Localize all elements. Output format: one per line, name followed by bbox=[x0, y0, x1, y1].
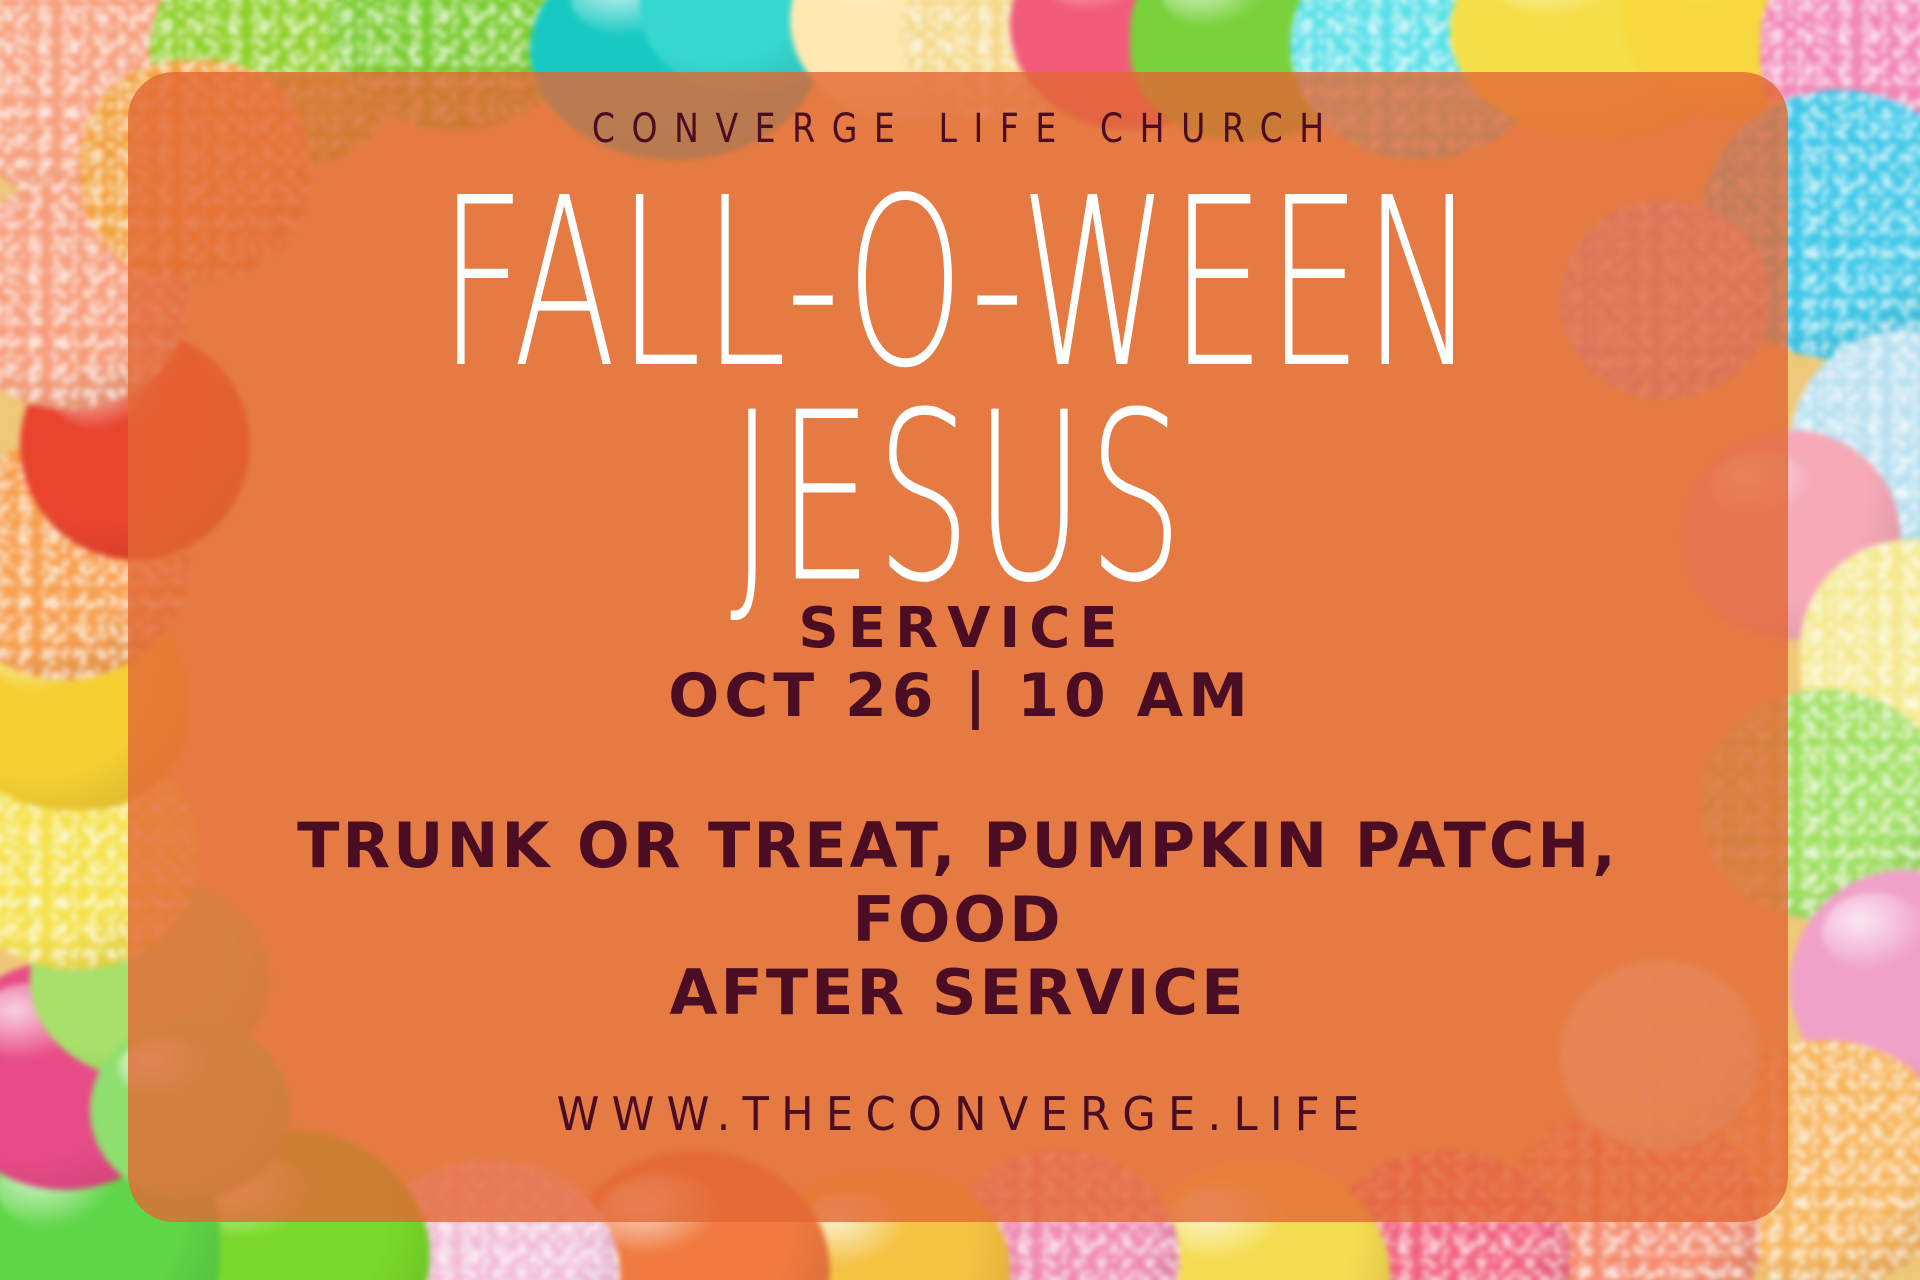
event-details-line-1: TRUNK OR TREAT, PUMPKIN PATCH, FOOD bbox=[188, 809, 1728, 955]
website-url[interactable]: WWW.THECONVERGE.LIFE bbox=[544, 1087, 1371, 1141]
content-panel: CONVERGE LIFE CHURCH FALL-O-WEEN JESUS S… bbox=[128, 72, 1788, 1222]
event-details: TRUNK OR TREAT, PUMPKIN PATCH, FOOD AFTE… bbox=[188, 809, 1728, 1028]
event-title: FALL-O-WEEN JESUS bbox=[439, 178, 1478, 607]
service-date-time: OCT 26 | 10 AM bbox=[663, 661, 1253, 732]
church-name: CONVERGE LIFE CHURCH bbox=[575, 106, 1340, 152]
event-title-line-2: JESUS bbox=[439, 392, 1478, 606]
event-details-line-2: AFTER SERVICE bbox=[188, 956, 1728, 1029]
poster-canvas: CONVERGE LIFE CHURCH FALL-O-WEEN JESUS S… bbox=[0, 0, 1920, 1280]
